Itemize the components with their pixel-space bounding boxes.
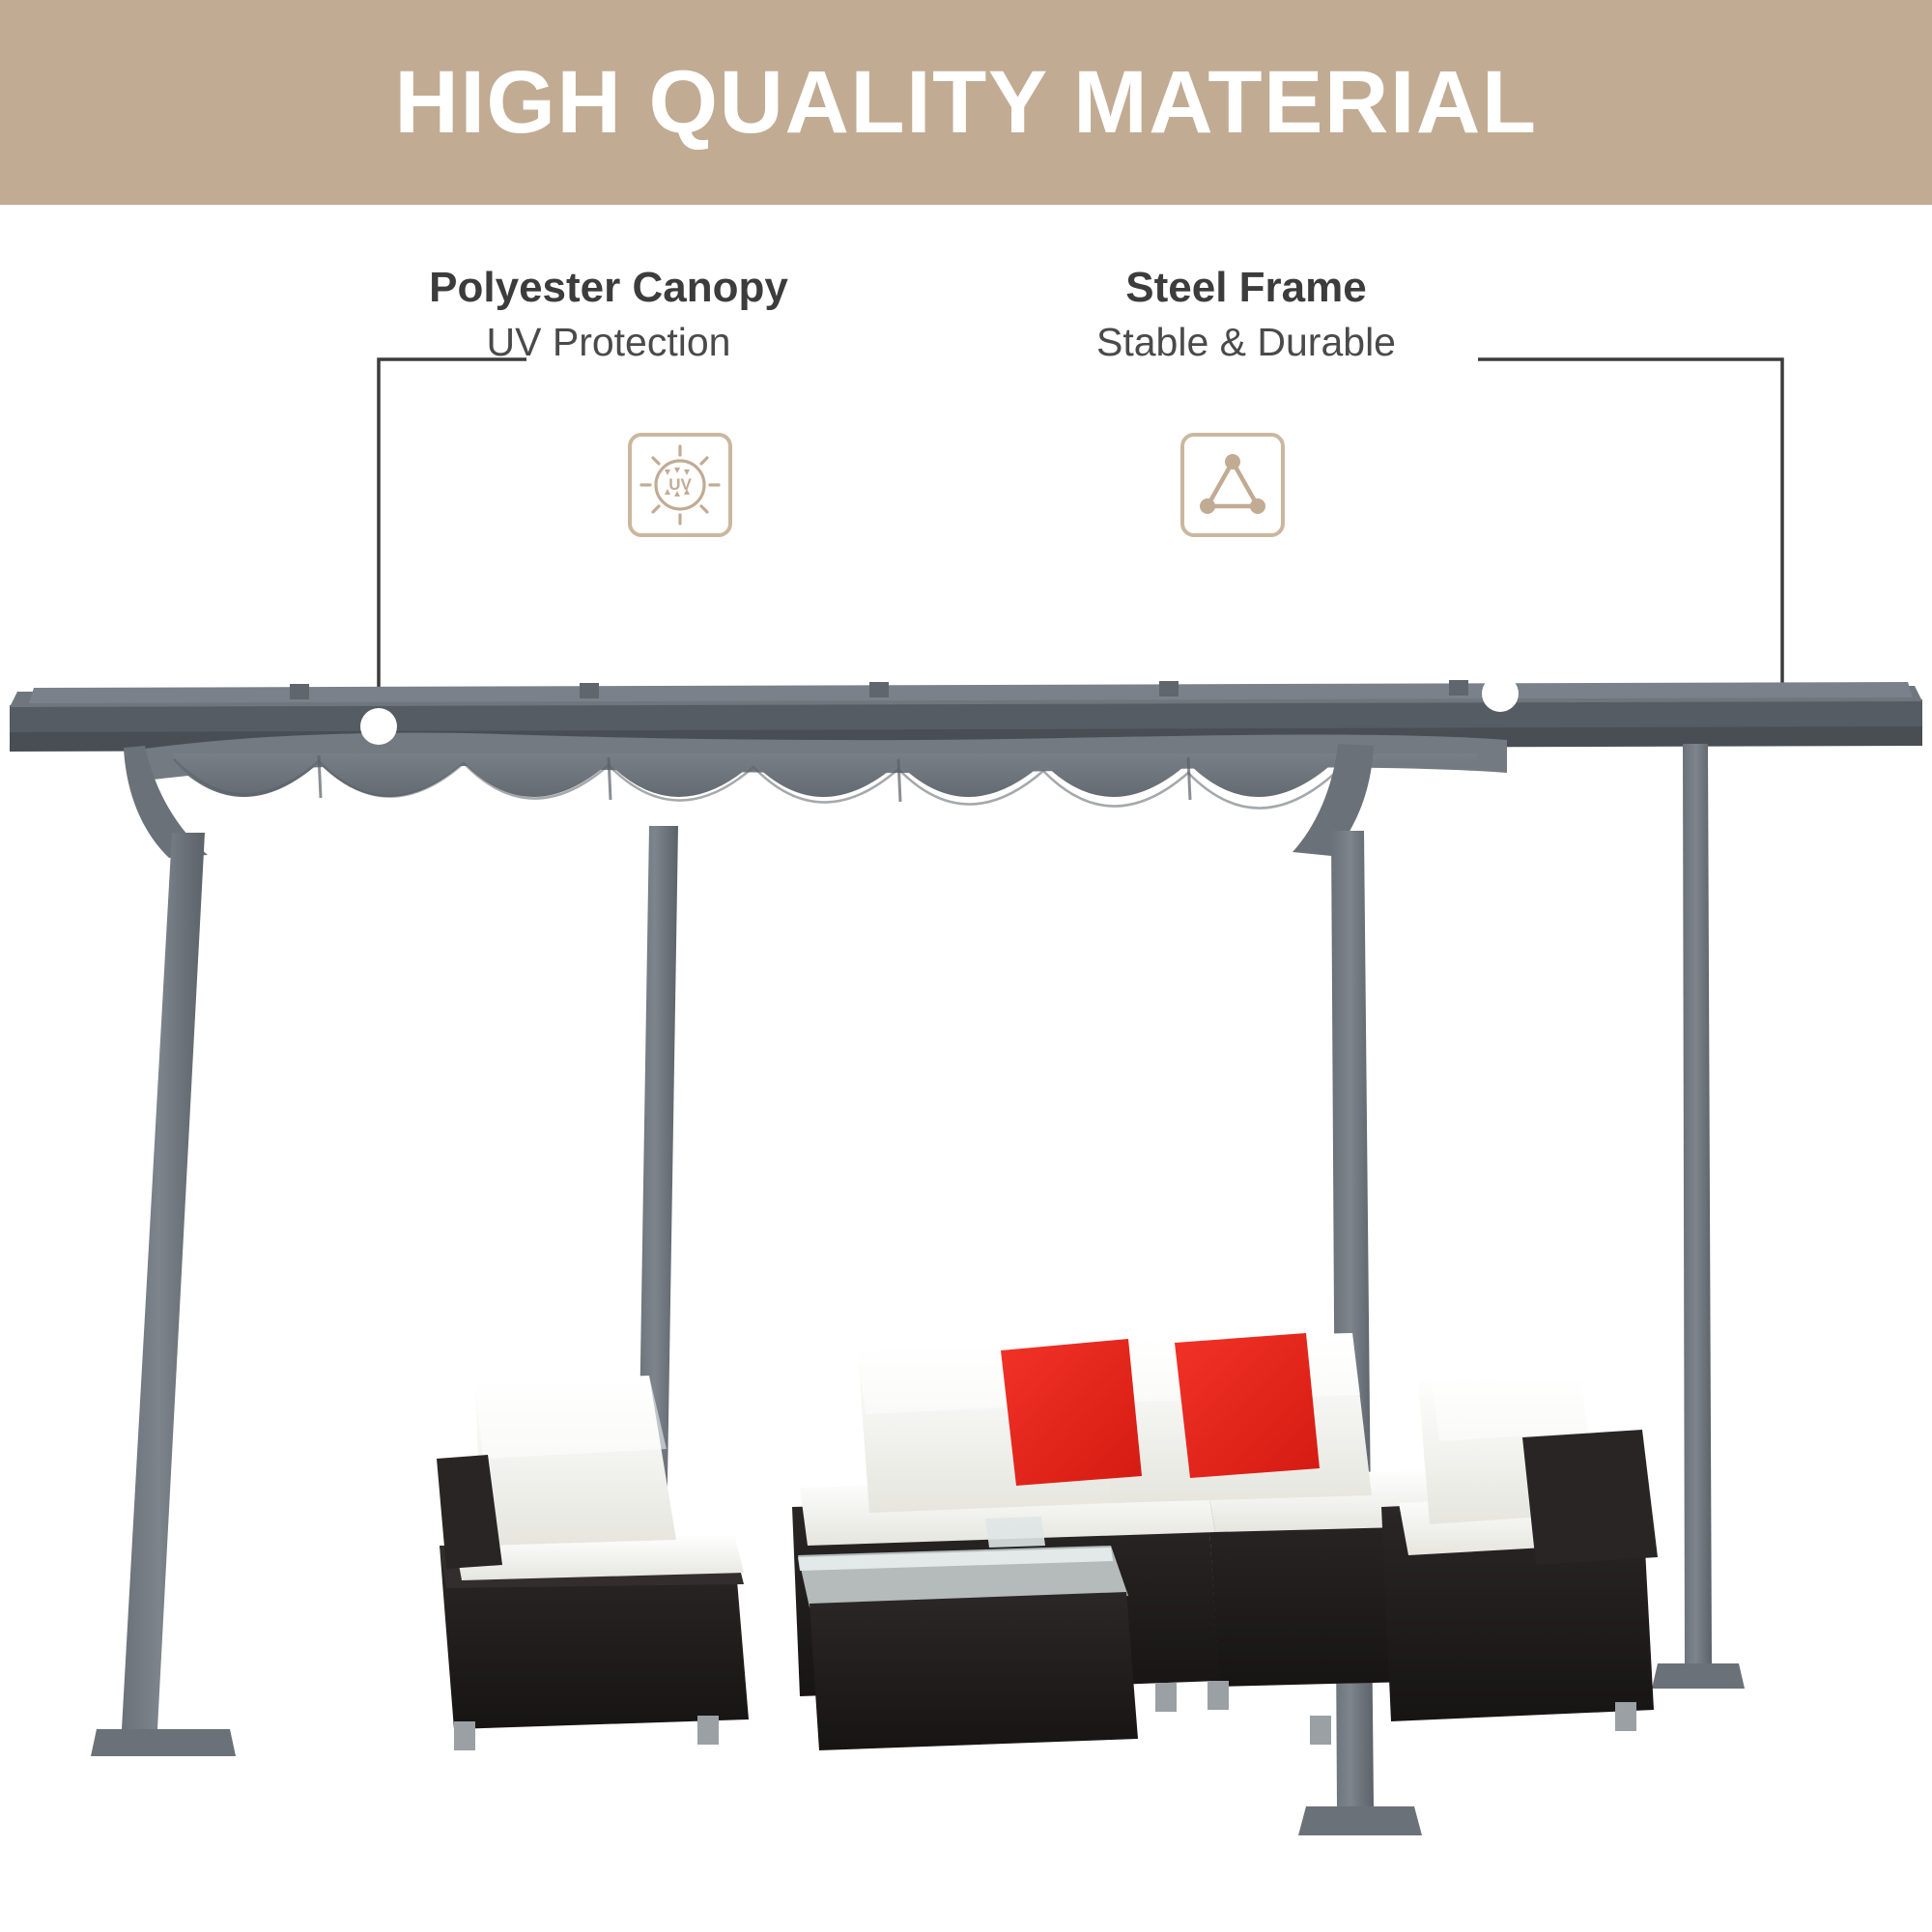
rattan-sofa-set [437, 1333, 1658, 1750]
furniture-feet [1155, 1681, 1636, 1745]
banner-title: HIGH QUALITY MATERIAL [394, 58, 1537, 147]
uv-icon-text: UV [668, 475, 692, 494]
pergola-roof [10, 680, 1922, 752]
triangle-frame-icon [1180, 433, 1285, 537]
left-armchair [437, 1376, 749, 1750]
uv-sun-icon-glyph: UV [632, 437, 728, 533]
callout-steel-frame: Steel Frame Stable & Durable [1043, 263, 1449, 365]
canopy-marker [360, 708, 397, 745]
center-sofa [792, 1333, 1524, 1696]
right-corner-chair [1381, 1372, 1658, 1721]
callout-subtitle: Stable & Durable [1043, 319, 1449, 365]
leader-line-canopy [379, 359, 526, 726]
banner: HIGH QUALITY MATERIAL [0, 0, 1932, 205]
leader-line-frame [1478, 359, 1782, 696]
callout-title: Polyester Canopy [377, 263, 840, 313]
side-table [985, 1517, 1045, 1548]
triangle-frame-icon-glyph [1184, 437, 1281, 533]
accent-pillow-left [1001, 1339, 1142, 1486]
uv-sun-icon: UV [628, 433, 732, 537]
pergola-canopy-fabric [124, 733, 1507, 858]
callout-subtitle: UV Protection [377, 319, 840, 365]
frame-marker [1482, 675, 1519, 712]
product-scene [0, 0, 1932, 1932]
coffee-table [798, 1546, 1138, 1750]
callout-title: Steel Frame [1043, 263, 1449, 313]
pergola-posts [91, 744, 1745, 1835]
product-feature-image: HIGH QUALITY MATERIAL Polyester Canopy U… [0, 0, 1932, 1932]
accent-pillow-right [1175, 1333, 1320, 1478]
leader-lines [377, 359, 526, 726]
callout-polyester-canopy: Polyester Canopy UV Protection [377, 263, 840, 365]
